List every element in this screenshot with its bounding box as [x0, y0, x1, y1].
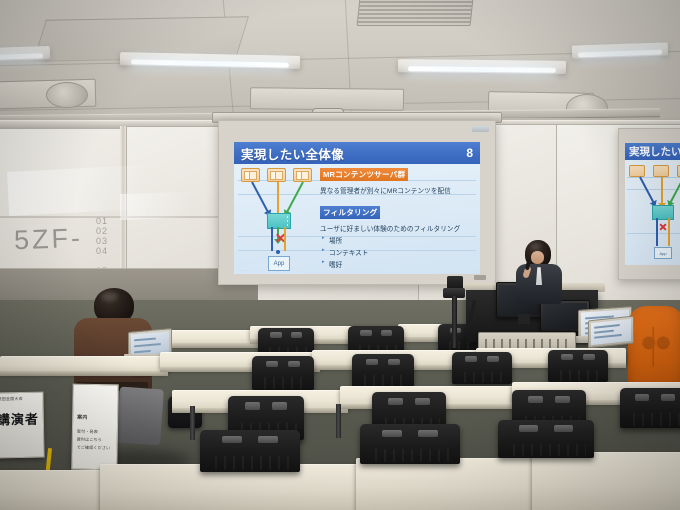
arrow-green — [286, 182, 304, 213]
server-icon-2 — [653, 165, 669, 177]
server-icon-2 — [267, 168, 286, 182]
projection-screen: 実現したい全体像 8 — [218, 120, 496, 285]
presenter-torso — [516, 264, 562, 304]
lecture-hall-photo: 5ZF- 01 02 03 04 05 実現したい全体像 8 — [0, 0, 680, 510]
air-vent — [357, 0, 474, 26]
arrow-blue — [251, 182, 269, 213]
server-icon-1 — [241, 168, 260, 182]
app-box-icon: App — [654, 247, 672, 259]
arrow-orange — [661, 177, 663, 203]
speaker-left — [46, 82, 88, 108]
sign-board-right: 案内 受付・発表 資料はこちら でご確認ください — [71, 384, 118, 471]
slide-bullet-3: 嗜好 — [320, 259, 476, 269]
screen-bottom-marker — [474, 275, 486, 280]
laptop-right-screen — [591, 319, 631, 345]
ceiling-light-2 — [120, 52, 300, 69]
presentation-slide: 実現したい全体像 8 — [234, 142, 480, 274]
arrow-blue-down — [656, 218, 658, 246]
chair-front-1 — [200, 430, 300, 472]
tripod-leg — [452, 296, 457, 348]
whiteboard-number-01: 01 — [96, 216, 108, 226]
sign-top-line: 第回全国大会 — [0, 396, 23, 402]
monitor-1-stand — [518, 314, 530, 324]
slide-rule — [627, 177, 680, 178]
slide-bullet-1: 場所 — [320, 235, 476, 245]
whiteboard-writing: 5ZF- — [13, 223, 83, 256]
projection-screen-secondary: 実現したい全 App — [618, 128, 680, 280]
screen-logo — [472, 126, 489, 132]
audience-legs — [116, 387, 164, 446]
desk-front-right — [356, 458, 536, 510]
whiteboard-number-02: 02 — [96, 226, 108, 236]
slide-title-bar: 実現したい全体像 8 — [234, 142, 480, 164]
desk-leg — [190, 406, 195, 440]
slide-diagram: App — [238, 166, 316, 272]
presenter-shirt — [533, 267, 544, 285]
jacket-print-graphic — [638, 327, 674, 367]
laptop-right-lid — [588, 316, 634, 349]
slide-bullet-2: コンテキスト — [320, 247, 476, 257]
hair-highlight — [530, 243, 541, 250]
sign-small-line-1: 受付・発表 — [77, 429, 98, 435]
slide-footer: ...... — [238, 267, 251, 272]
sign-board-left: 第回全国大会 講演者 — [0, 392, 45, 459]
slide-section-text-2: ユーザに好ましい体験のためのフィルタリング — [320, 223, 476, 233]
slide-title-secondary: 実現したい全 — [625, 143, 680, 160]
presentation-slide-secondary: 実現したい全 App — [625, 143, 680, 265]
whiteboard-number-04: 04 — [96, 246, 108, 256]
chair-row2-2 — [352, 354, 414, 388]
slide-body: App MRコンテンツサーバ群 異なる管理者が別々にMRコンテンツを配信 フィル… — [234, 164, 480, 274]
whiteboard-divider — [0, 216, 250, 218]
chair-row3-4 — [620, 388, 680, 428]
chair-front-3 — [498, 420, 594, 458]
server-icon-1 — [629, 165, 645, 177]
desk-front-far-right — [532, 452, 680, 510]
desk-leg — [336, 404, 341, 438]
presenter — [516, 240, 562, 302]
arrow-orange — [277, 182, 279, 214]
desk-row2-left — [0, 356, 168, 372]
arrow-orange-down — [284, 227, 286, 251]
ceiling-light-4 — [572, 42, 668, 58]
slide-text-column: MRコンテンツサーバ群 異なる管理者が別々にMRコンテンツを配信 フィルタリング… — [320, 164, 476, 274]
presenter-face — [531, 251, 545, 264]
chair-row2-1 — [252, 356, 314, 390]
slide-section-heading-2: フィルタリング — [320, 206, 380, 219]
chair-row2-4 — [548, 350, 608, 382]
whiteboard-number-03: 03 — [96, 236, 108, 246]
server-icon-3 — [293, 168, 312, 182]
chair-front-2 — [360, 424, 460, 464]
slide-rule — [627, 233, 680, 234]
slide-page-number: 8 — [466, 146, 473, 160]
node-dot — [276, 250, 280, 254]
slide-section-text-1: 異なる管理者が別々にMRコンテンツを配信 — [320, 185, 476, 195]
blocked-x-icon — [659, 223, 667, 231]
desk-front-left — [0, 470, 112, 510]
sign-small-line-2: 資料はこちら — [77, 437, 102, 443]
slide-section-heading-1: MRコンテンツサーバ群 — [320, 168, 408, 181]
sign-main-text: 講演者 — [0, 409, 39, 429]
arrow-orange-down — [668, 218, 670, 246]
chair-row2-3 — [452, 352, 512, 384]
hair-highlight — [101, 292, 118, 301]
app-box-icon: App — [268, 256, 290, 271]
slide-rule — [627, 189, 680, 190]
slide-title: 実現したい全体像 — [241, 144, 344, 163]
arrow-blue-down — [271, 227, 273, 251]
ceiling-light-3 — [398, 59, 566, 74]
sign-small-line-3: でご確認ください — [77, 445, 111, 452]
sign-small-header: 案内 — [77, 415, 88, 421]
